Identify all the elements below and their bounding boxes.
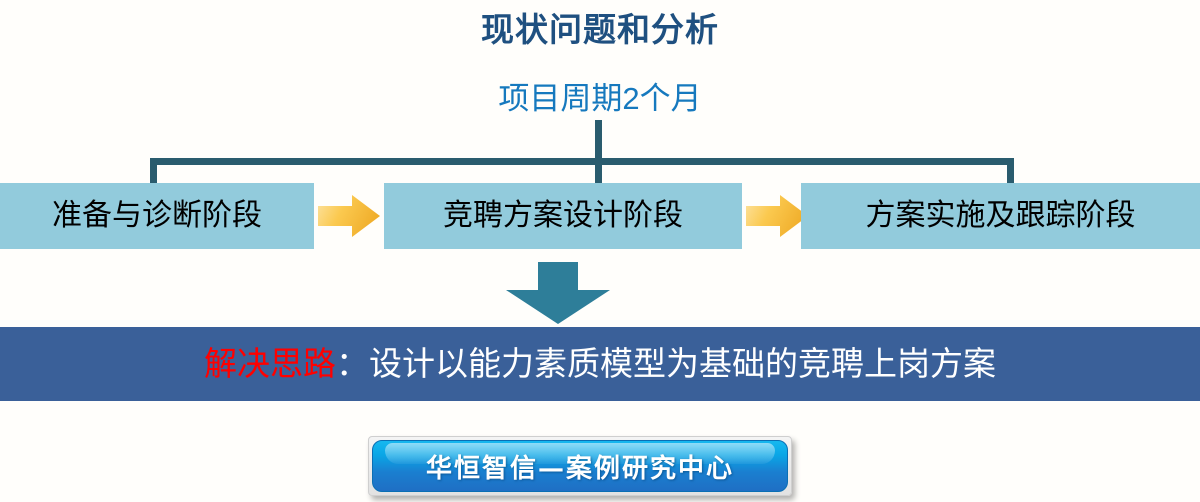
phase-box-1-label: 准备与诊断阶段 <box>52 200 262 232</box>
arrow-down-icon <box>506 262 610 324</box>
phase-box-2[interactable]: 竞聘方案设计阶段 <box>384 183 742 249</box>
solution-rest-label: ：设计以能力素质模型为基础的竞聘上岗方案 <box>336 346 996 382</box>
arrow-phase-1-to-2 <box>318 195 380 237</box>
solution-banner: 解决思路：设计以能力素质模型为基础的竞聘上岗方案 <box>0 327 1200 401</box>
arrow-right-icon <box>746 195 808 237</box>
page-subtitle: 项目周期2个月 <box>0 78 1200 120</box>
phase-box-3[interactable]: 方案实施及跟踪阶段 <box>801 183 1200 249</box>
page-title: 现状问题和分析 <box>0 8 1200 52</box>
arrow-phase-2-to-3 <box>746 195 808 237</box>
bracket-connector <box>0 120 1200 190</box>
bracket-connector-icon <box>0 120 1200 190</box>
phase-row: 准备与诊断阶段 竞聘方案设计阶段 <box>0 183 1200 249</box>
down-arrow <box>506 262 610 324</box>
phase-box-2-label: 竞聘方案设计阶段 <box>443 200 683 232</box>
footer-button-frame: 华恒智信—案例研究中心 <box>368 436 792 496</box>
solution-key-label: 解决思路 <box>204 346 336 382</box>
phase-box-3-label: 方案实施及跟踪阶段 <box>866 200 1136 232</box>
footer-button[interactable]: 华恒智信—案例研究中心 <box>372 440 788 492</box>
arrow-right-icon <box>318 195 380 237</box>
slide-canvas: 现状问题和分析 项目周期2个月 准备与诊断阶段 <box>0 0 1200 502</box>
phase-box-1[interactable]: 准备与诊断阶段 <box>0 183 314 249</box>
footer-button-label: 华恒智信—案例研究中心 <box>426 448 734 485</box>
